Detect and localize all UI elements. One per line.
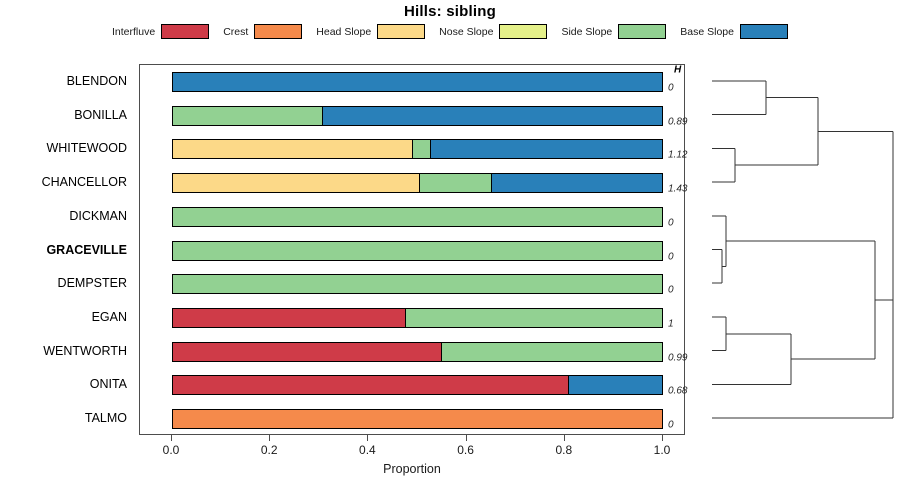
y-axis-label-talmo: TALMO [85, 411, 127, 425]
h-value: 1 [668, 318, 674, 329]
x-axis: 0.00.20.40.60.81.0 [139, 435, 685, 459]
bar-segment-side-slope[interactable] [406, 309, 662, 327]
legend-label: Interfluve [112, 26, 155, 38]
legend-label: Nose Slope [439, 26, 493, 38]
x-axis-tick [367, 435, 368, 441]
bar-segment-base-slope[interactable] [569, 376, 662, 394]
x-axis-title: Proportion [139, 462, 685, 476]
bar-segment-side-slope[interactable] [173, 242, 662, 260]
bar-row[interactable] [172, 409, 663, 429]
page-title: Hills: sibling [0, 3, 900, 20]
h-value: 0.89 [668, 116, 687, 127]
h-value: 0.99 [668, 352, 687, 363]
h-value: 0 [668, 420, 674, 431]
y-axis-label-chancellor: CHANCELLOR [42, 175, 127, 189]
y-axis-label-graceville: GRACEVILLE [46, 243, 127, 257]
legend-entry-crest[interactable]: Crest [223, 24, 302, 39]
bar-row[interactable] [172, 106, 663, 126]
legend-swatch-icon [161, 24, 209, 39]
bar-segment-side-slope[interactable] [420, 174, 492, 192]
y-axis-label-bonilla: BONILLA [74, 108, 127, 122]
bar-segment-side-slope[interactable] [173, 275, 662, 293]
bar-segment-head-slope[interactable] [173, 174, 420, 192]
bar-segment-base-slope[interactable] [323, 107, 662, 125]
x-axis-tick [171, 435, 172, 441]
dendrogram [688, 64, 900, 435]
x-axis-tick [269, 435, 270, 441]
x-axis-tick-label: 0.6 [457, 443, 474, 457]
bar-row[interactable] [172, 308, 663, 328]
bar-segment-base-slope[interactable] [431, 140, 662, 158]
stacked-bars [140, 65, 686, 436]
y-axis-label-blendon: BLENDON [67, 74, 127, 88]
y-axis-label-onita: ONITA [90, 377, 127, 391]
bar-row[interactable] [172, 207, 663, 227]
h-value: 0.68 [668, 386, 687, 397]
y-axis-label-wentworth: WENTWORTH [43, 344, 127, 358]
bar-segment-base-slope[interactable] [492, 174, 662, 192]
legend-swatch-icon [618, 24, 666, 39]
bar-row[interactable] [172, 342, 663, 362]
legend-entry-nose-slope[interactable]: Nose Slope [439, 24, 547, 39]
bar-row[interactable] [172, 274, 663, 294]
bar-segment-head-slope[interactable] [173, 140, 413, 158]
bar-segment-side-slope[interactable] [442, 343, 662, 361]
bar-segment-side-slope[interactable] [173, 107, 323, 125]
legend-entry-base-slope[interactable]: Base Slope [680, 24, 788, 39]
bar-segment-interfluve[interactable] [173, 376, 569, 394]
h-column-header: H [674, 64, 681, 75]
h-value: 1.12 [668, 150, 687, 161]
h-value: 0 [668, 217, 674, 228]
dendrogram-svg [688, 64, 900, 435]
h-value: 0 [668, 82, 674, 93]
x-axis-tick [466, 435, 467, 441]
x-axis-tick-label: 0.4 [359, 443, 376, 457]
y-axis-category-labels: BLENDONBONILLAWHITEWOODCHANCELLORDICKMAN… [0, 64, 133, 435]
bar-row[interactable] [172, 72, 663, 92]
bar-row[interactable] [172, 139, 663, 159]
chart-root: Hills: sibling InterfluveCrestHead Slope… [0, 0, 900, 500]
bar-row[interactable] [172, 173, 663, 193]
x-axis-tick-label: 0.2 [261, 443, 278, 457]
legend-entry-side-slope[interactable]: Side Slope [561, 24, 666, 39]
x-axis-tick [564, 435, 565, 441]
x-axis-tick-label: 0.0 [163, 443, 180, 457]
legend-swatch-icon [499, 24, 547, 39]
legend-swatch-icon [254, 24, 302, 39]
legend-swatch-icon [377, 24, 425, 39]
bar-row[interactable] [172, 241, 663, 261]
legend: InterfluveCrestHead SlopeNose SlopeSide … [0, 24, 900, 39]
y-axis-label-dempster: DEMPSTER [58, 276, 127, 290]
bar-segment-interfluve[interactable] [173, 309, 406, 327]
bar-segment-crest[interactable] [173, 410, 662, 428]
y-axis-label-dickman: DICKMAN [69, 209, 127, 223]
y-axis-label-egan: EGAN [92, 310, 127, 324]
bar-segment-side-slope[interactable] [173, 208, 662, 226]
legend-swatch-icon [740, 24, 788, 39]
x-axis-tick [662, 435, 663, 441]
x-axis-tick-label: 0.8 [555, 443, 572, 457]
legend-label: Base Slope [680, 26, 734, 38]
bar-segment-base-slope[interactable] [173, 73, 662, 91]
h-value: 0 [668, 251, 674, 262]
bar-segment-side-slope[interactable] [413, 140, 431, 158]
x-axis-tick-label: 1.0 [654, 443, 671, 457]
legend-entry-head-slope[interactable]: Head Slope [316, 24, 425, 39]
legend-label: Side Slope [561, 26, 612, 38]
h-value: 1.43 [668, 184, 687, 195]
legend-label: Head Slope [316, 26, 371, 38]
y-axis-label-whitewood: WHITEWOOD [46, 141, 127, 155]
h-value: 0 [668, 285, 674, 296]
plot-panel [139, 64, 685, 435]
legend-label: Crest [223, 26, 248, 38]
bar-row[interactable] [172, 375, 663, 395]
bar-segment-interfluve[interactable] [173, 343, 442, 361]
legend-entry-interfluve[interactable]: Interfluve [112, 24, 209, 39]
